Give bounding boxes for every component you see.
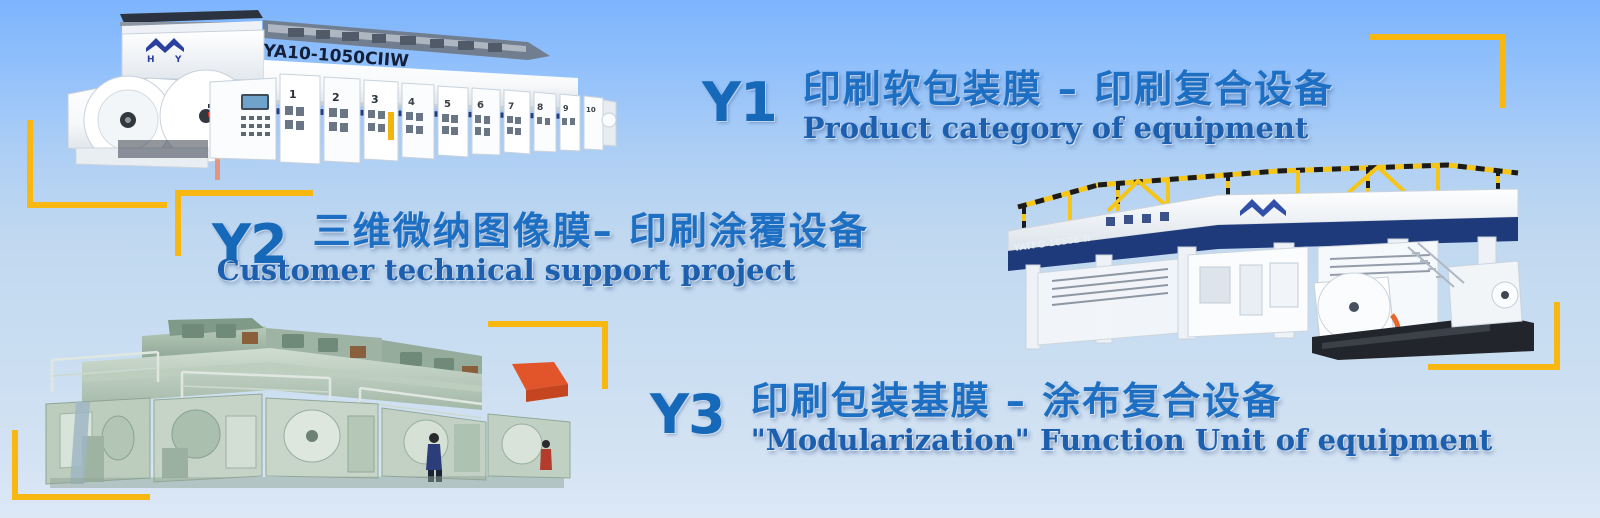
bracket-top-right-horizontal <box>1370 34 1506 40</box>
svg-text:3: 3 <box>371 93 379 106</box>
machine-photo-coating-laminating-machine: YATFG-1650B II <box>978 155 1538 360</box>
bracket-bottom-left-horizontal <box>12 494 150 500</box>
entry-code-y1: Y1 <box>702 76 777 130</box>
svg-text:8: 8 <box>537 103 543 113</box>
svg-text:7: 7 <box>508 102 514 112</box>
svg-text:1: 1 <box>289 88 297 101</box>
bracket-mid-right-vertical <box>1554 302 1560 370</box>
entry-subtitle-en-y2: Customer technical support project <box>217 255 869 287</box>
svg-text:6: 6 <box>477 100 484 111</box>
entry-code-y3: Y3 <box>650 388 725 442</box>
entry-text-y2: 三维微纳图像膜– 印刷涂覆设备 Customer technical suppo… <box>313 210 869 286</box>
entry-title-cn-y1: 印刷软包装膜 – 印刷复合设备 <box>803 68 1334 111</box>
bracket-top-left-horizontal <box>27 202 167 208</box>
entry-text-y1: 印刷软包装膜 – 印刷复合设备 Product category of equi… <box>803 68 1334 144</box>
machine-photo-rotogravure-printing-press: H Y YA10-1050CIIW <box>58 8 618 180</box>
svg-text:10: 10 <box>586 106 596 114</box>
bracket-mid-left-vertical <box>175 190 181 256</box>
bracket-lower-mid-vertical <box>602 321 608 389</box>
entry-block-y2: Y2 三维微纳图像膜– 印刷涂覆设备 Customer technical su… <box>212 210 869 286</box>
machine-photo-base-film-coating-line <box>30 318 575 490</box>
svg-text:5: 5 <box>444 99 451 110</box>
entry-title-cn-y3: 印刷包装基膜 – 涂布复合设备 <box>751 380 1493 423</box>
entry-block-y1: Y1 印刷软包装膜 – 印刷复合设备 Product category of e… <box>702 68 1334 144</box>
bracket-lower-mid-horizontal <box>488 321 608 327</box>
bracket-top-left-vertical <box>27 120 33 208</box>
entry-title-cn-y2: 三维微纳图像膜– 印刷涂覆设备 <box>313 210 869 253</box>
bracket-mid-left-horizontal <box>175 190 313 196</box>
svg-text:Y: Y <box>174 55 182 65</box>
svg-text:9: 9 <box>563 104 569 113</box>
bracket-mid-right-horizontal <box>1428 364 1560 370</box>
bracket-top-right-vertical <box>1500 34 1506 108</box>
equipment-banner: H Y YA10-1050CIIW <box>0 0 1600 518</box>
svg-text:H: H <box>147 55 155 65</box>
entry-block-y3: Y3 印刷包装基膜 – 涂布复合设备 "Modularization" Func… <box>650 380 1492 456</box>
entry-subtitle-en-y3: "Modularization" Function Unit of equipm… <box>751 425 1493 457</box>
svg-text:2: 2 <box>332 91 340 104</box>
entry-text-y3: 印刷包装基膜 – 涂布复合设备 "Modularization" Functio… <box>751 380 1493 456</box>
entry-subtitle-en-y1: Product category of equipment <box>803 113 1334 145</box>
bracket-bottom-left-vertical <box>12 430 18 500</box>
svg-text:4: 4 <box>408 97 415 108</box>
